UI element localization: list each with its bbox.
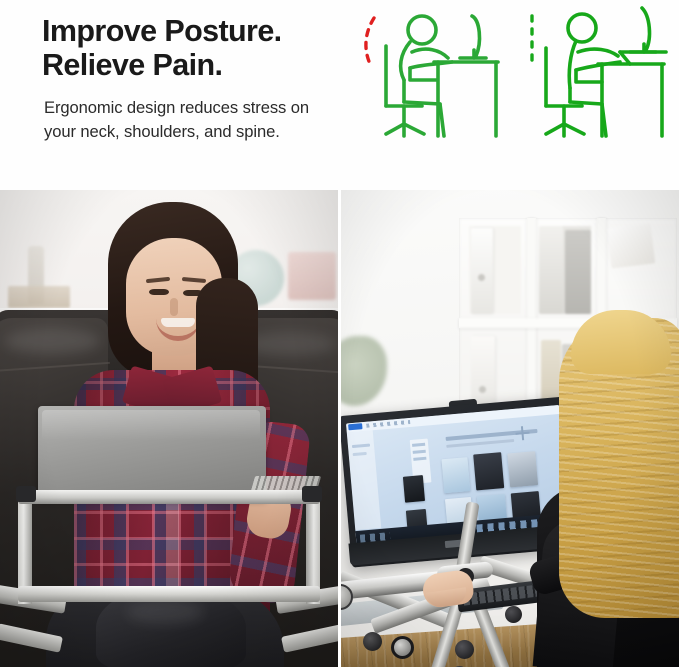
posture-comparison-diagram [342, 0, 679, 190]
top-band: Improve Posture. Relieve Pain. Ergonomic… [0, 0, 679, 190]
subheadline: Ergonomic design reduces stress on your … [44, 96, 342, 144]
page-title: Improve Posture. Relieve Pain. [42, 14, 342, 82]
photo-woman-laptop-couch [0, 190, 338, 667]
correct-posture-illustration [510, 2, 678, 162]
headline-line-2: Relieve Pain. [42, 48, 342, 82]
incorrect-posture-illustration [348, 2, 516, 162]
headline-line-1: Improve Posture. [42, 14, 342, 48]
copy-block: Improve Posture. Relieve Pain. Ergonomic… [42, 14, 342, 144]
product-feature-banner: Improve Posture. Relieve Pain. Ergonomic… [0, 0, 679, 667]
photo-woman-monitor-desk [341, 190, 679, 667]
photo-row [0, 190, 679, 667]
